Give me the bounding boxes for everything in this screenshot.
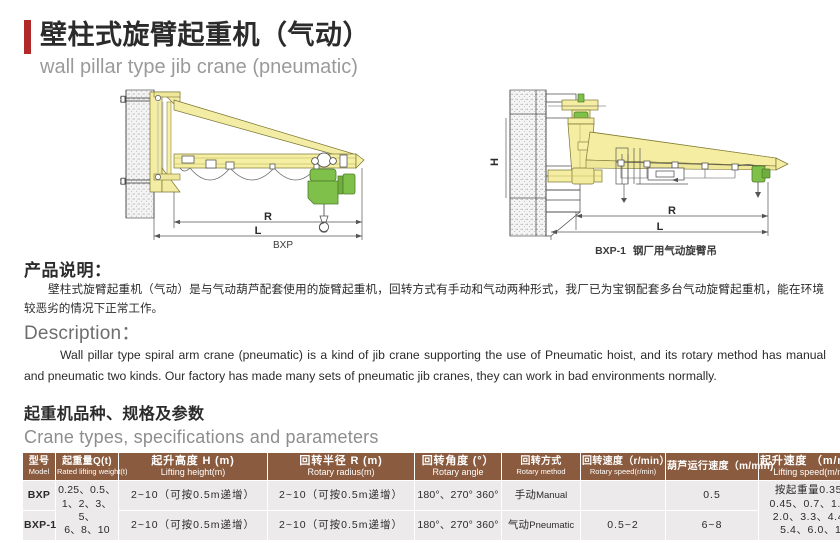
page-header: 壁柱式旋臂起重机（气动） wall pillar type jib crane …: [24, 18, 624, 79]
cell-model-bxp: BXP: [23, 481, 55, 510]
technical-drawings: R L BXP: [0, 88, 840, 258]
bxp-drawing: R L BXP: [118, 88, 458, 253]
cell-hoist-speed-bxp1: 6~8: [666, 511, 758, 540]
cell-rotary-method-bxp1: 气动Pneumatic: [502, 511, 580, 540]
col-rotary-speed: 回转速度（r/min） Rotary speed(r/min): [581, 453, 665, 480]
description-en-section: Description：: [24, 318, 824, 345]
spec-table-wrap: 型号 Model 起重量Q(t) Rated lifting weight(t)…: [22, 452, 820, 541]
spec-table: 型号 Model 起重量Q(t) Rated lifting weight(t)…: [22, 452, 840, 541]
cell-rotary-speed-bxp: [581, 481, 665, 510]
cell-lifting-speed: 按起重量0.35、 0.45、0.7、1.4、 2.0、3.3、4.4、 5.4…: [759, 481, 840, 540]
cell-hoist-speed-bxp: 0.5: [666, 481, 758, 510]
rotary-method-en-bxp: Manual: [536, 490, 567, 501]
cell-rotary-radius-bxp: 2~10（可按0.5m递增）: [268, 481, 414, 510]
pneumatic-hoist-body: [308, 169, 355, 204]
col-lifting-height: 起升高度 H (m) Lifting height(m): [119, 453, 267, 480]
cell-rotary-angle-bxp: 180°、270° 360°: [415, 481, 501, 510]
rotary-method-en-bxp1: Pneumatic: [529, 520, 574, 531]
col-hoist-running-speed: 葫芦运行速度（m/min): [666, 453, 758, 480]
description-en-heading: Description：: [24, 318, 824, 345]
cell-rotary-method-bxp: 手动Manual: [502, 481, 580, 510]
dimension-label-H: H: [489, 158, 501, 166]
col-rotary-angle: 回转角度 (°） Rotary angle: [415, 453, 501, 480]
bxp1-drawing-svg: H R L: [476, 88, 836, 248]
specs-subheading: 起重机品种、规格及参数 Crane types, specifications …: [24, 404, 379, 449]
rotary-method-cn-bxp: 手动: [515, 489, 536, 501]
description-cn-heading: 产品说明：: [24, 256, 824, 281]
table-row: BXP 0.25、0.5、 1、2、3、5、 6、8、10 2~10（可按0.5…: [23, 481, 840, 510]
accent-bar: [24, 20, 31, 54]
specs-subheading-en: Crane types, specifications and paramete…: [24, 425, 379, 449]
dimension-label-R2: R: [668, 205, 676, 217]
cell-lifting-height-bxp: 2~10（可按0.5m递增）: [119, 481, 267, 510]
cell-rotary-angle-bxp1: 180°、270° 360°: [415, 511, 501, 540]
col-model: 型号 Model: [23, 453, 55, 480]
bxp-drawing-svg: R L: [118, 88, 458, 248]
dimension-label-L: L: [255, 225, 262, 237]
cell-rotary-radius-bxp1: 2~10（可按0.5m递增）: [268, 511, 414, 540]
product-catalog-page: 壁柱式旋臂起重机（气动） wall pillar type jib crane …: [0, 0, 840, 543]
specs-subheading-cn: 起重机品种、规格及参数: [24, 404, 379, 425]
description-en-body-wrap: Wall pillar type spiral arm crane (pneum…: [24, 345, 826, 387]
table-row: BXP-1 2~10（可按0.5m递增） 2~10（可按0.5m递增） 180°…: [23, 511, 840, 540]
description-cn-body: 壁柱式旋臂起重机（气动）是与气动葫芦配套使用的旋臂起重机，回转方式有手动和气动两…: [24, 280, 824, 318]
table-header-row: 型号 Model 起重量Q(t) Rated lifting weight(t)…: [23, 453, 840, 480]
col-rotary-method: 回转方式 Rotary method: [502, 453, 580, 480]
description-cn-body-wrap: 壁柱式旋臂起重机（气动）是与气动葫芦配套使用的旋臂起重机，回转方式有手动和气动两…: [24, 280, 824, 318]
dimension-label-L2: L: [657, 221, 664, 233]
description-cn-section: 产品说明：: [24, 256, 824, 281]
cell-model-bxp1: BXP-1: [23, 511, 55, 540]
bxp-caption: BXP: [118, 240, 448, 251]
cell-lifting-height-bxp1: 2~10（可按0.5m递增）: [119, 511, 267, 540]
cell-rated-lifting-weight: 0.25、0.5、 1、2、3、5、 6、8、10: [56, 481, 118, 540]
col-rotary-radius: 回转半径 R (m) Rotary radius(m): [268, 453, 414, 480]
page-title: 壁柱式旋臂起重机（气动）: [40, 18, 370, 52]
cell-rotary-speed-bxp1: 0.5~2: [581, 511, 665, 540]
description-en-body: Wall pillar type spiral arm crane (pneum…: [24, 345, 826, 387]
dimension-label-R: R: [264, 211, 272, 223]
page-subtitle: wall pillar type jib crane (pneumatic): [40, 55, 624, 79]
title-row: 壁柱式旋臂起重机（气动）: [24, 18, 624, 54]
rotary-method-cn-bxp1: 气动: [508, 519, 529, 531]
col-lifting-speed: 起升速度 （m/min） Lifting speed(m/min): [759, 453, 840, 480]
bxp1-drawing: H R L BXP-1 钢厂用气动旋臂吊: [476, 88, 836, 253]
col-rated-lifting-weight: 起重量Q(t) Rated lifting weight(t): [56, 453, 118, 480]
